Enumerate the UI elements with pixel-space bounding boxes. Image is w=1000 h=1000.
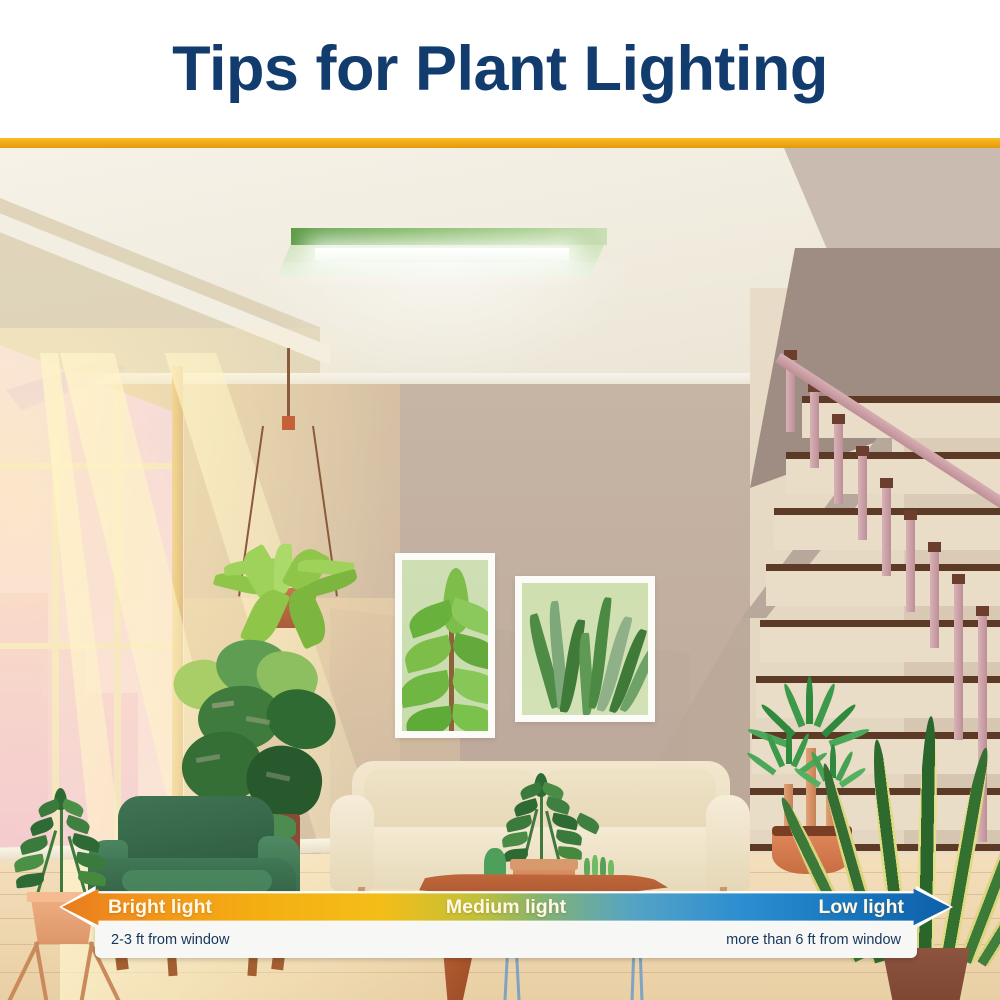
living-room-illustration <box>0 148 1000 1000</box>
legend-label-medium: Medium light <box>62 896 950 919</box>
legend-labels: Bright light Medium light Low light <box>62 888 950 926</box>
legend-caption-right: more than 6 ft from window <box>726 932 901 948</box>
light-level-legend: 2-3 ft from window more than 6 ft from w… <box>62 888 950 966</box>
accent-divider-bar <box>0 138 1000 148</box>
page-title: Tips for Plant Lighting <box>172 38 828 101</box>
table-zz-pot-rim <box>510 859 578 870</box>
infographic-page: Tips for Plant Lighting <box>0 0 1000 1000</box>
legend-label-low: Low light <box>818 896 904 919</box>
header: Tips for Plant Lighting <box>0 0 1000 138</box>
legend-caption-row: 2-3 ft from window more than 6 ft from w… <box>95 922 917 958</box>
legend-caption-left: 2-3 ft from window <box>111 932 229 948</box>
